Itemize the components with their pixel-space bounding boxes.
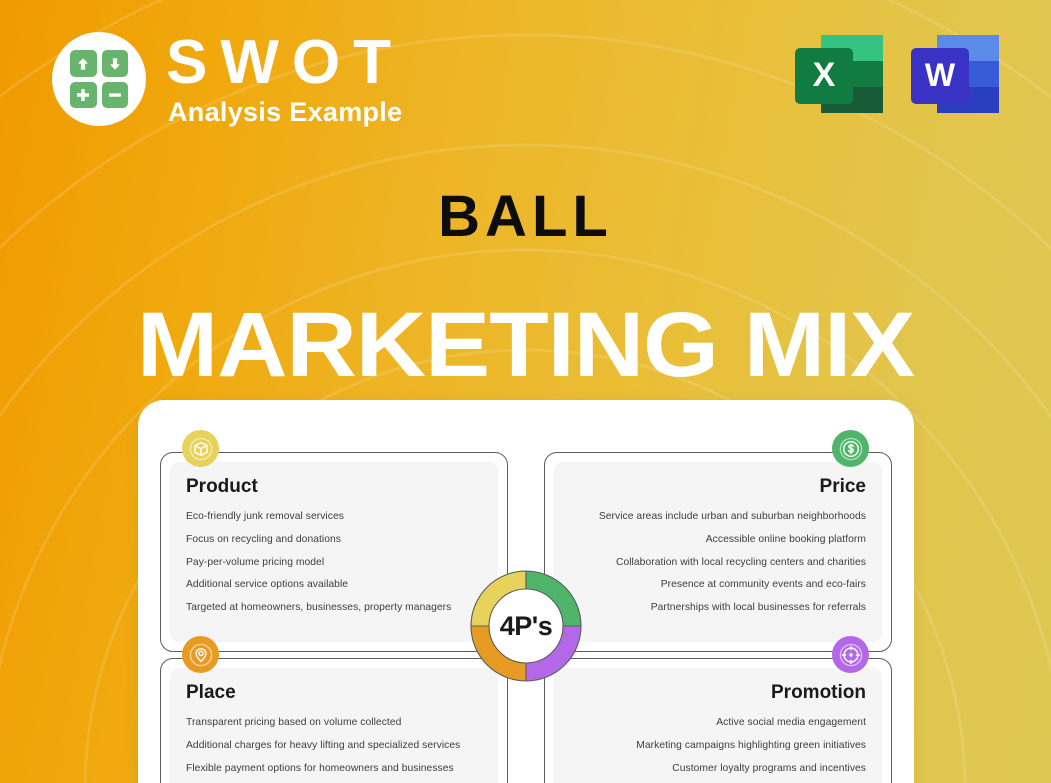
page-title: MARKETING MIX bbox=[0, 293, 1051, 398]
quadrant-promotion-body: Promotion Active social media engagement… bbox=[554, 668, 882, 783]
list-item: Active social media engagement bbox=[570, 717, 866, 729]
list-item: Additional charges for heavy lifting and… bbox=[186, 740, 482, 752]
minus-icon bbox=[102, 82, 129, 109]
list-item: Marketing campaigns highlighting green i… bbox=[570, 740, 866, 752]
swot-logo-text: SWOT Analysis Example bbox=[166, 33, 404, 128]
quadrant-price[interactable]: Price Service areas include urban and su… bbox=[544, 452, 892, 652]
quadrant-place-body: Place Transparent pricing based on volum… bbox=[170, 668, 498, 783]
list-item: Targeted at homeowners, businesses, prop… bbox=[186, 602, 482, 614]
swot-marketing-mix-slide: SWOT Analysis Example X W bbox=[0, 0, 1051, 783]
list-item: Additional service options available bbox=[186, 579, 482, 591]
office-app-icons: X W bbox=[791, 30, 1003, 120]
quadrant-product[interactable]: Product Eco-friendly junk removal servic… bbox=[160, 452, 508, 652]
quadrant-product-body: Product Eco-friendly junk removal servic… bbox=[170, 462, 498, 642]
quadrant-product-title: Product bbox=[186, 476, 482, 498]
quadrant-price-body: Price Service areas include urban and su… bbox=[554, 462, 882, 642]
quadrant-promotion[interactable]: Promotion Active social media engagement… bbox=[544, 658, 892, 783]
svg-text:W: W bbox=[925, 57, 956, 93]
list-item: Accessible online booking platform bbox=[570, 534, 866, 546]
list-item: Presence at community events and eco-fai… bbox=[570, 579, 866, 591]
brand-title: BALL bbox=[0, 183, 1051, 250]
list-item: Transparent pricing based on volume coll… bbox=[186, 717, 482, 729]
four-ps-donut-chart: 4P's bbox=[466, 566, 586, 686]
list-item: Pay-per-volume pricing model bbox=[186, 557, 482, 569]
dollar-coin-icon[interactable] bbox=[832, 430, 869, 467]
plus-icon bbox=[70, 82, 97, 109]
quadrant-place-title: Place bbox=[186, 682, 482, 704]
list-item: Service areas include urban and suburban… bbox=[570, 511, 866, 523]
swot-logo-word: SWOT bbox=[166, 33, 404, 94]
list-item: Focus on recycling and donations bbox=[186, 534, 482, 546]
swot-logo-circle bbox=[52, 32, 146, 126]
microsoft-excel-icon[interactable]: X bbox=[791, 30, 887, 120]
arrow-up-icon bbox=[70, 50, 97, 77]
quadrant-product-list: Eco-friendly junk removal services Focus… bbox=[186, 511, 482, 614]
quadrant-promotion-title: Promotion bbox=[570, 682, 866, 704]
list-item: Eco-friendly junk removal services bbox=[186, 511, 482, 523]
quadrant-price-list: Service areas include urban and suburban… bbox=[570, 511, 866, 614]
quadrant-price-title: Price bbox=[570, 476, 866, 498]
quadrant-promotion-list: Active social media engagement Marketing… bbox=[570, 717, 866, 783]
donut-center-label: 4P's bbox=[466, 566, 586, 686]
target-crosshair-icon[interactable] bbox=[832, 636, 869, 673]
arrow-down-icon bbox=[102, 50, 129, 77]
swot-logo-block: SWOT Analysis Example bbox=[52, 31, 404, 128]
swot-logo-subtitle: Analysis Example bbox=[168, 97, 404, 128]
package-box-icon[interactable] bbox=[182, 430, 219, 467]
list-item: Customer loyalty programs and incentives bbox=[570, 763, 866, 775]
list-item: Collaboration with local recycling cente… bbox=[570, 557, 866, 569]
quadrant-place[interactable]: Place Transparent pricing based on volum… bbox=[160, 658, 508, 783]
list-item: Flexible payment options for homeowners … bbox=[186, 763, 482, 775]
location-pin-icon[interactable] bbox=[182, 636, 219, 673]
swot-quad-arrows-icon bbox=[70, 50, 128, 108]
microsoft-word-icon[interactable]: W bbox=[907, 30, 1003, 120]
svg-text:X: X bbox=[813, 56, 836, 94]
quadrant-place-list: Transparent pricing based on volume coll… bbox=[186, 717, 482, 783]
list-item: Partnerships with local businesses for r… bbox=[570, 602, 866, 614]
